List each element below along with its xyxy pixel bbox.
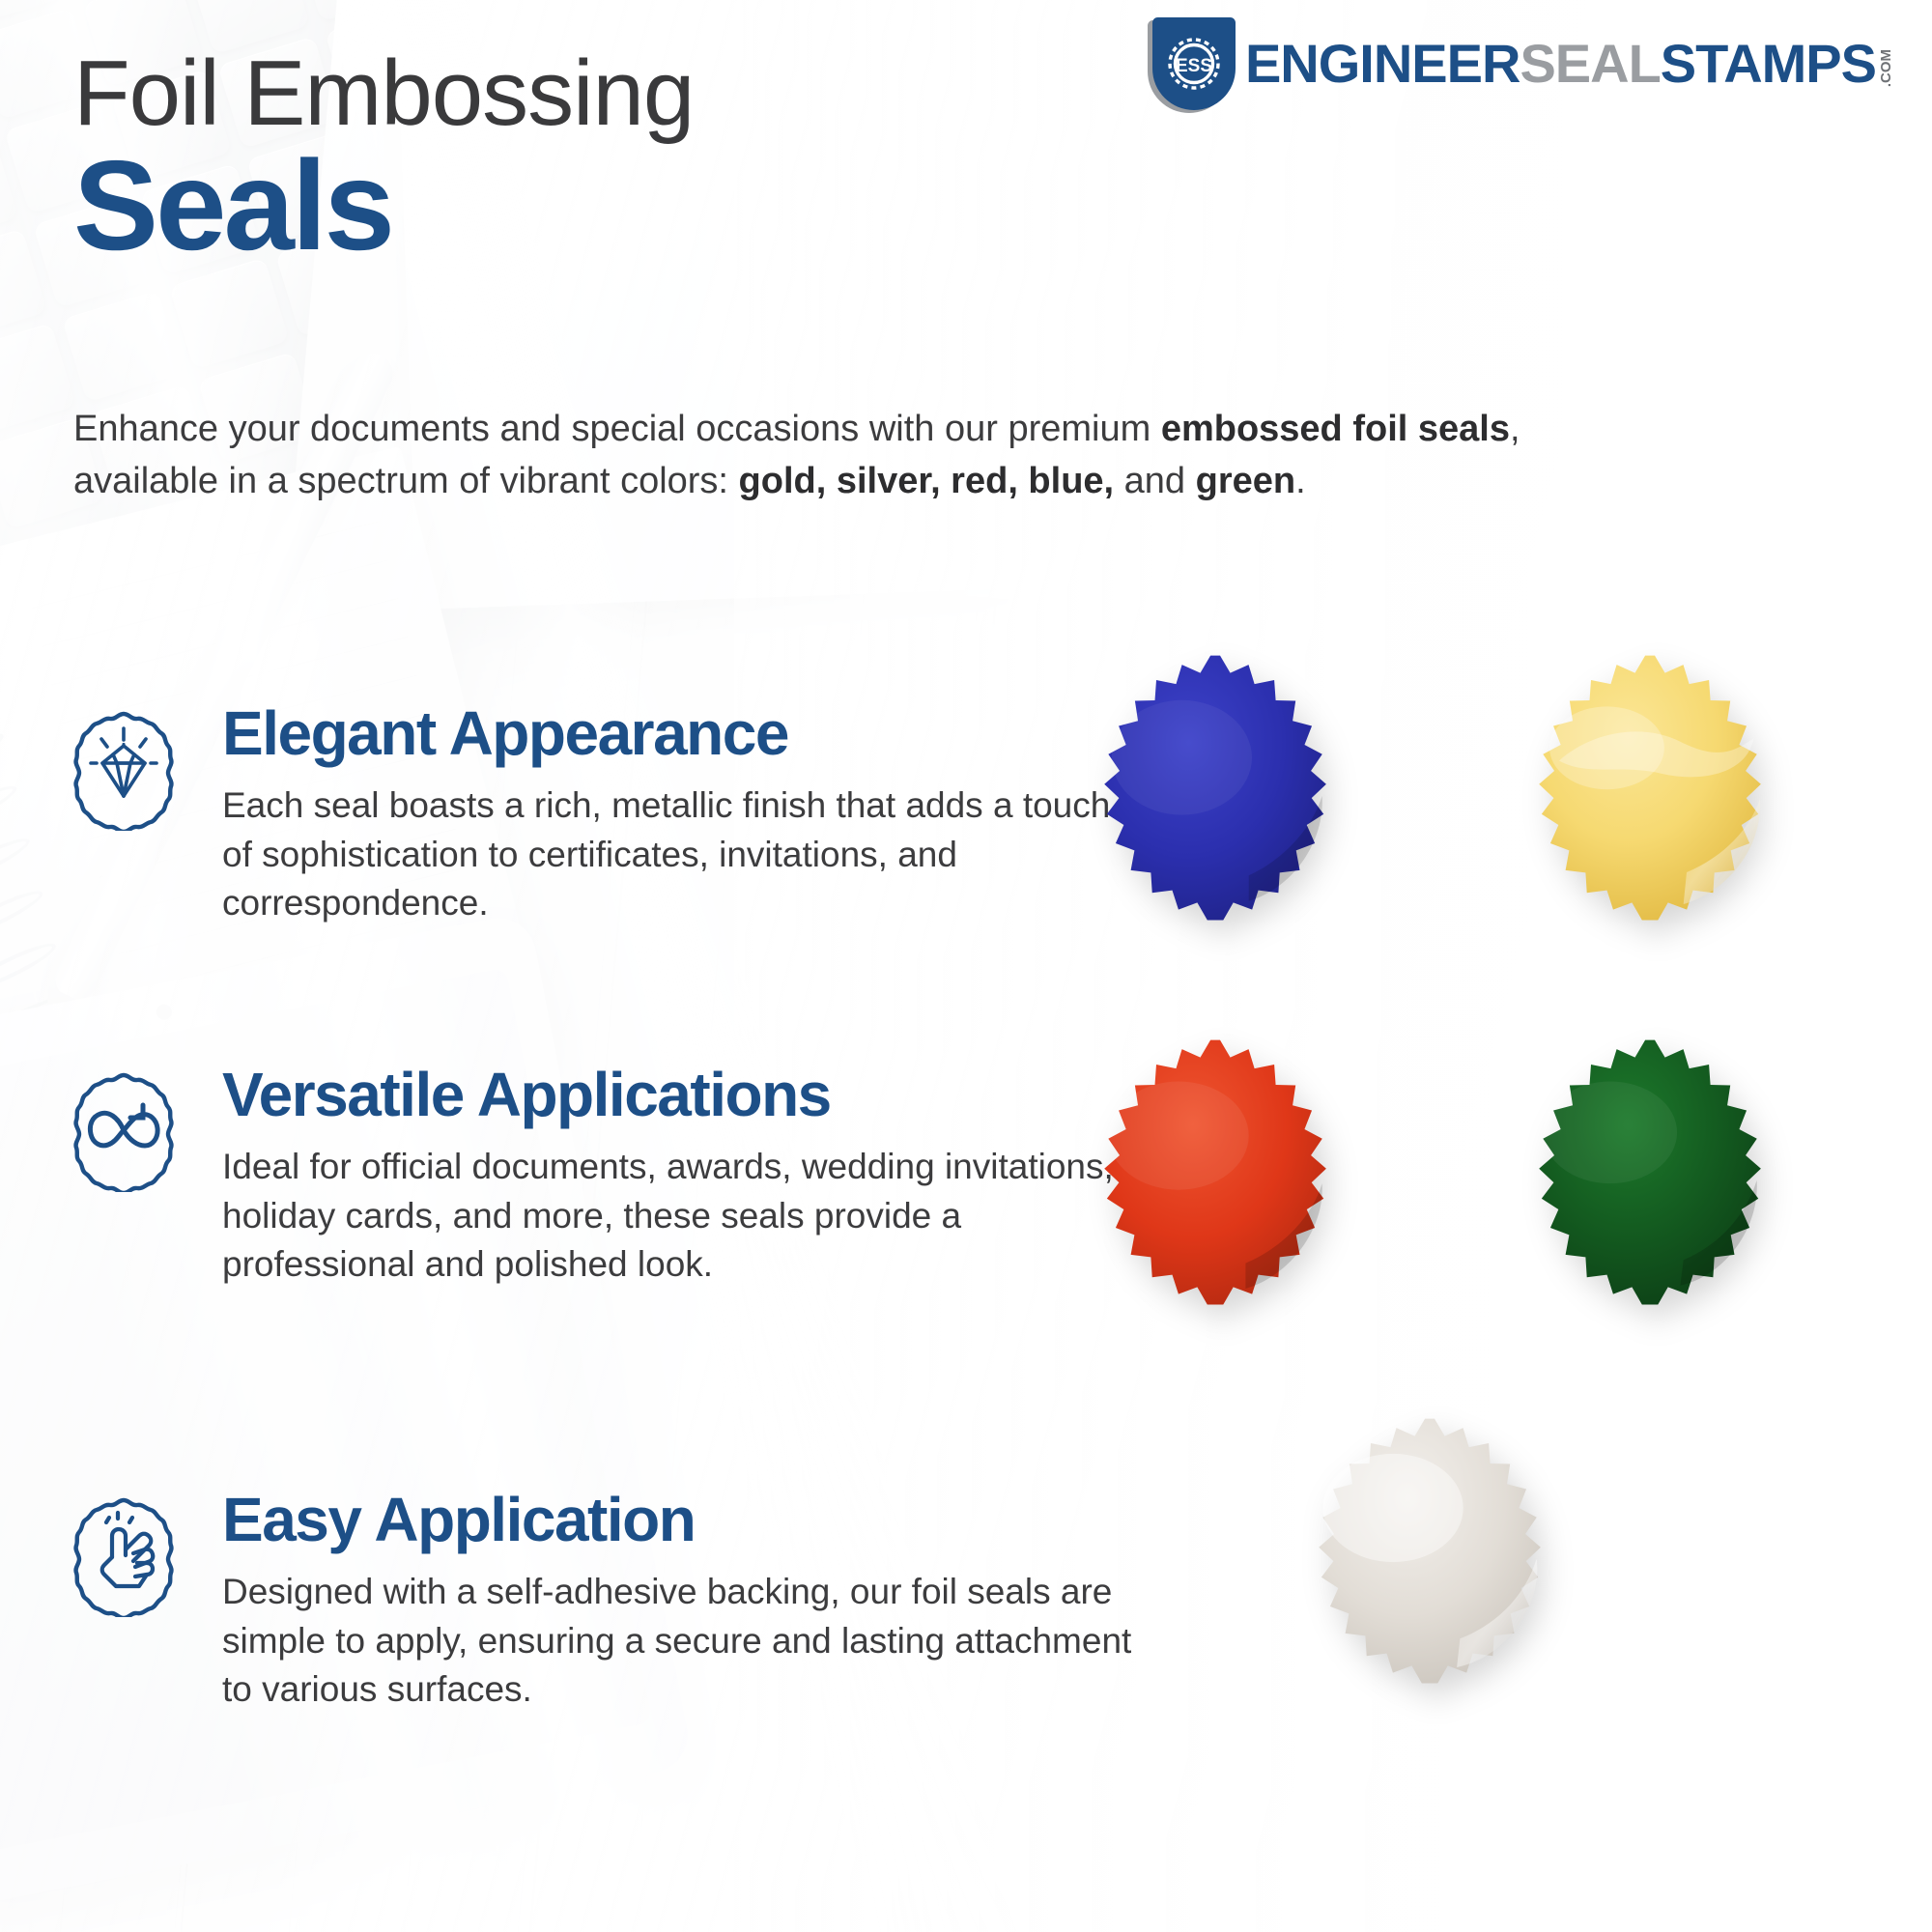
intro-bold-embossed-foil-seals: embossed foil seals <box>1161 409 1510 449</box>
feature-title: Versatile Applications <box>222 1063 1150 1127</box>
brand-tld: .COM <box>1879 49 1893 87</box>
brand-wordmark: ENGINEERSEALSTAMPS.COM <box>1245 37 1893 91</box>
brand-logo[interactable]: ESS ENGINEERSEALSTAMPS.COM <box>1152 17 1893 110</box>
intro-text-1: Enhance your documents and special occas… <box>73 409 1161 449</box>
brand-name-stamps: STAMPS <box>1661 37 1876 91</box>
intro-text-3: and <box>1114 461 1196 501</box>
feature-title: Easy Application <box>222 1488 1150 1552</box>
foil-seal-gold <box>1495 649 1814 968</box>
feature-versatile-applications: Versatile Applications Ideal for officia… <box>62 1063 1150 1289</box>
title-line-foil-embossing: Foil Embossing <box>73 46 694 141</box>
foil-seal-blue <box>1061 649 1379 968</box>
gear-monogram-icon: ESS <box>1160 30 1228 98</box>
intro-bold-color-list: gold, silver, red, blue, <box>739 461 1115 501</box>
tap-hand-badge-icon <box>62 1493 185 1617</box>
brand-name-seal: SEAL <box>1520 37 1660 91</box>
infinity-loop-badge-icon <box>62 1068 185 1192</box>
ess-shield-icon: ESS <box>1152 17 1236 110</box>
feature-description: Ideal for official documents, awards, we… <box>222 1143 1150 1289</box>
foil-seal-red <box>1061 1034 1379 1352</box>
title-line-seals: Seals <box>73 145 694 266</box>
logo-monogram-text: ESS <box>1176 56 1212 76</box>
page-title: Foil Embossing Seals <box>73 46 694 266</box>
feature-title: Elegant Appearance <box>222 701 1150 766</box>
diamond-badge-icon <box>62 707 185 831</box>
feature-description: Each seal boasts a rich, metallic finish… <box>222 781 1150 927</box>
feature-easy-application: Easy Application Designed with a self-ad… <box>62 1488 1150 1714</box>
intro-paragraph: Enhance your documents and special occas… <box>73 404 1522 508</box>
brand-name-engineer: ENGINEER <box>1245 37 1520 91</box>
foil-seal-green <box>1495 1034 1814 1352</box>
feature-description: Designed with a self-adhesive backing, o… <box>222 1568 1150 1714</box>
intro-bold-green: green <box>1196 461 1295 501</box>
intro-text-4: . <box>1295 461 1306 501</box>
foil-seal-silver <box>1275 1412 1594 1731</box>
feature-elegant-appearance: Elegant Appearance Each seal boasts a ri… <box>62 701 1150 927</box>
